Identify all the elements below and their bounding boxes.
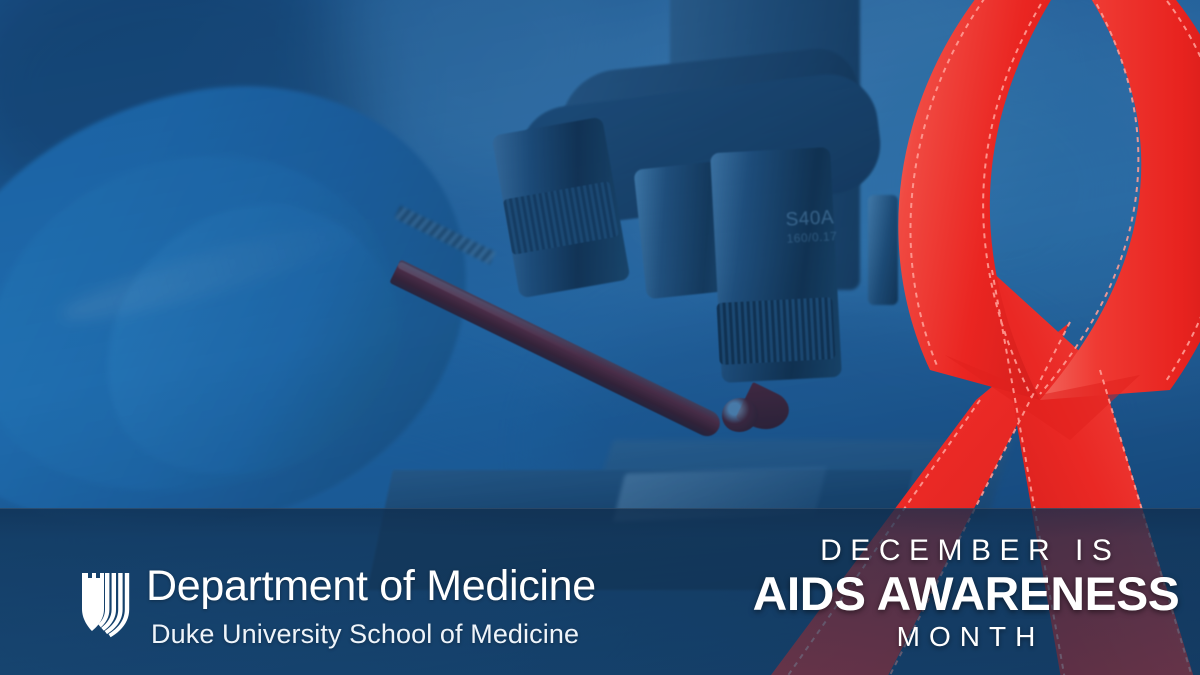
awareness-headline: DECEMBER IS AIDS AWARENESS MONTH [756, 533, 1176, 655]
awareness-line-1: DECEMBER IS [756, 533, 1176, 569]
duke-logo-text: Department of Medicine Duke University S… [146, 561, 596, 657]
duke-logo-lockup[interactable]: Department of Medicine Duke University S… [78, 561, 596, 657]
department-title: Department of Medicine [146, 561, 596, 611]
duke-university-shield-logo [78, 567, 132, 639]
awareness-line-2: AIDS AWARENESS [752, 569, 1180, 619]
aids-awareness-banner: S40A 160/0.17 [0, 0, 1200, 675]
school-subtitle: Duke University School of Medicine [146, 611, 596, 657]
awareness-line-3: MONTH [756, 619, 1176, 655]
ribbon-loop-left [898, 0, 1100, 400]
